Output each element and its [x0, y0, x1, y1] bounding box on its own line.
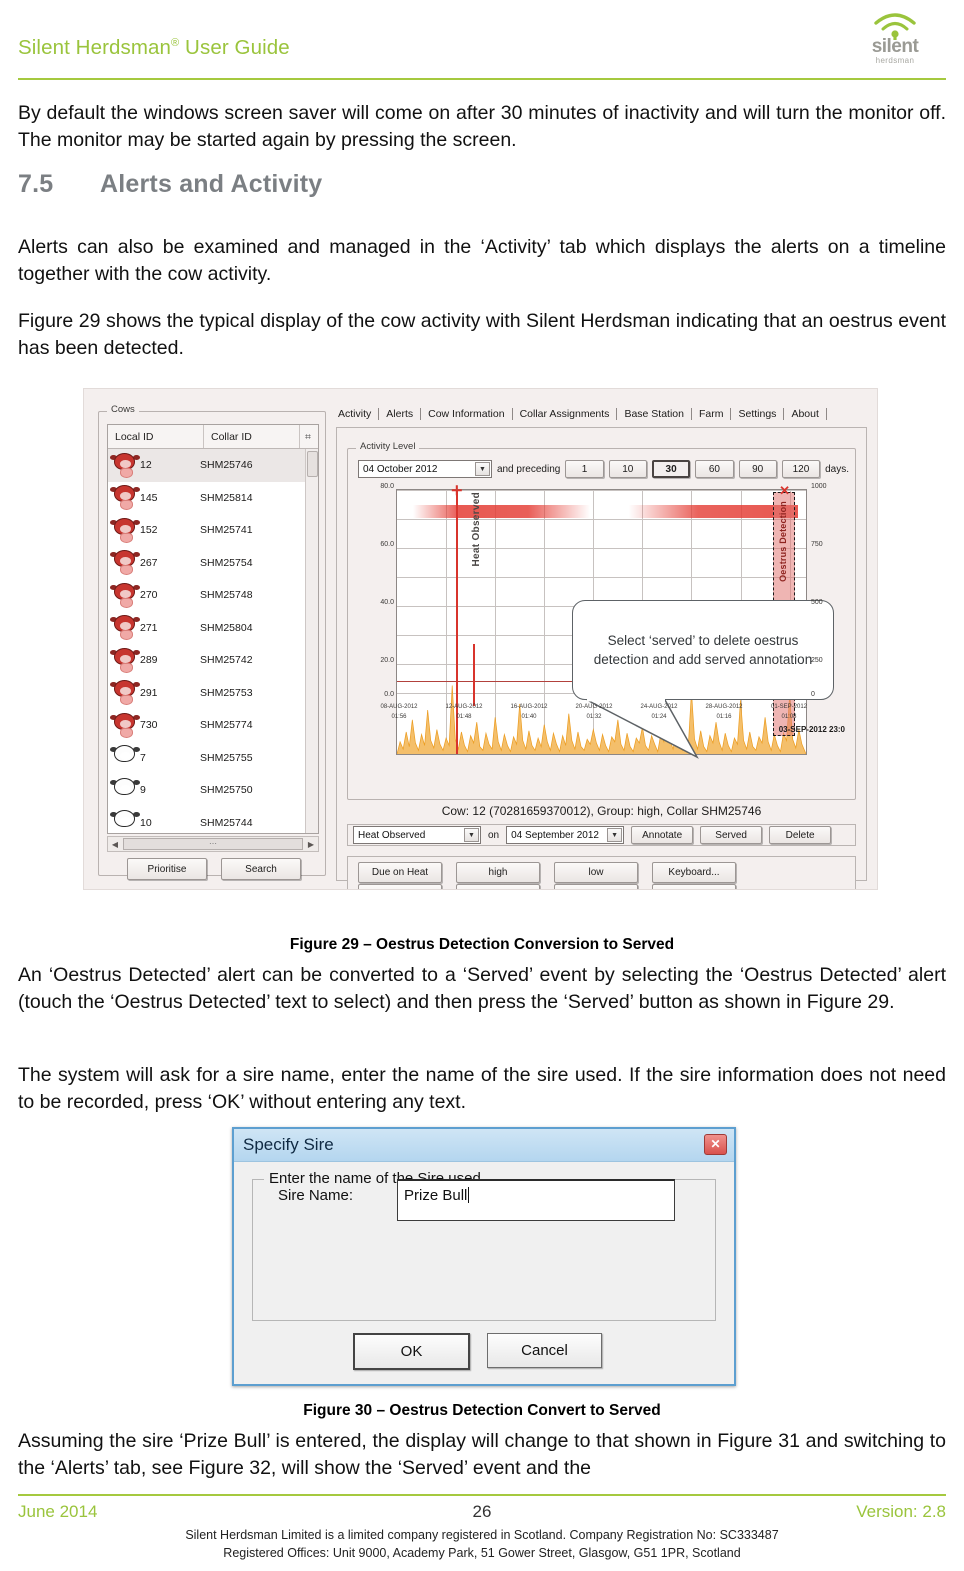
paragraph-sire-name: The system will ask for a sire name, ent…: [18, 1062, 946, 1116]
table-row[interactable]: 270 SHM25748: [108, 579, 318, 612]
cows-vertical-scrollbar[interactable]: [305, 449, 318, 833]
x-tick-date: 08-AUG-2012: [368, 703, 430, 711]
table-row[interactable]: 10 SHM25744: [108, 807, 318, 834]
section-number: 7.5: [18, 170, 100, 199]
section-title: Alerts and Activity: [100, 170, 322, 198]
y-tick-20: 20.0: [360, 657, 394, 664]
document-page: Silent Herdsman® User Guide silent herds…: [0, 0, 964, 1571]
cell-collar-id: SHM25746: [200, 459, 318, 471]
table-row[interactable]: 291 SHM25753: [108, 677, 318, 710]
cows-horizontal-scrollbar[interactable]: ◀ ⋯ ▶: [107, 836, 319, 852]
header-divider: [18, 78, 946, 80]
served-button[interactable]: Served: [700, 826, 762, 844]
cell-local-id: 152: [138, 524, 200, 536]
cell-local-id: 9: [138, 784, 200, 796]
cows-table-body: 12 SHM25746 145 SHM25814 152 SHM25741: [108, 449, 318, 833]
cell-collar-id: SHM25755: [200, 752, 318, 764]
days-label: days.: [825, 464, 849, 475]
due-on-heat-button[interactable]: Due on Heat: [358, 862, 442, 883]
cell-collar-id: SHM25750: [200, 784, 318, 796]
cow-red-icon: [112, 712, 138, 739]
scroll-left-icon[interactable]: ◀: [108, 840, 122, 849]
paragraph-oestrus-conversion: An ‘Oestrus Detected’ alert can be conve…: [18, 962, 946, 1016]
chevron-down-icon[interactable]: ▼: [607, 828, 622, 842]
cell-local-id: 7: [138, 752, 200, 764]
column-collar-id: Collar ID: [204, 425, 300, 448]
tab-cow-information[interactable]: Cow Information: [421, 408, 512, 420]
heat-observed-label: Heat Observed: [471, 492, 482, 567]
logo-subtext: herdsman: [852, 56, 938, 65]
bottom-button-row: Due on Heat Show All high heifer low fre…: [347, 856, 856, 890]
on-label: on: [488, 830, 499, 841]
silent-herdsman-logo: silent herdsman: [852, 10, 938, 78]
table-row[interactable]: 9 SHM25750: [108, 774, 318, 807]
tab-alerts[interactable]: Alerts: [379, 408, 421, 420]
days-button-1[interactable]: 1: [565, 460, 603, 478]
y2-tick-250: 250: [811, 657, 845, 664]
cell-collar-id: SHM25741: [200, 524, 318, 536]
cell-collar-id: SHM25753: [200, 687, 318, 699]
oestrus-detection-label: Oestrus Detection: [778, 501, 788, 582]
date-dropdown[interactable]: 04 October 2012▼: [358, 460, 492, 478]
cow-info-line: Cow: 12 (70281659370012), Group: high, C…: [347, 804, 856, 823]
scroll-right-icon[interactable]: ▶: [304, 840, 318, 849]
paragraph-alerts: Alerts can also be examined and managed …: [18, 234, 946, 288]
sire-name-label: Sire Name:: [278, 1187, 353, 1204]
x-tick-date: 16-AUG-2012: [498, 703, 560, 711]
event-date-value: 04 September 2012: [511, 830, 599, 841]
event-type-dropdown[interactable]: Heat Observed▼: [353, 826, 481, 844]
cell-collar-id: SHM25748: [200, 589, 318, 601]
callout-bubble: Select ‘served’ to delete oestrus detect…: [572, 600, 834, 700]
tab-collar-assignments[interactable]: Collar Assignments: [513, 408, 618, 420]
y2-tick-750: 750: [811, 541, 845, 548]
y-tick-60: 60.0: [360, 541, 394, 548]
x-tick-time: 01:56: [368, 713, 430, 721]
x-tick-date: 28-AUG-2012: [693, 703, 755, 711]
table-row[interactable]: 730 SHM25774: [108, 709, 318, 742]
cell-collar-id: SHM25744: [200, 817, 318, 829]
sire-name-value: Prize Bull: [404, 1187, 467, 1204]
activity-chart: ✛ Heat Observed Oestrus Detection ✕ Sele…: [358, 485, 847, 791]
cell-collar-id: SHM25814: [200, 492, 318, 504]
cow-white-icon: [112, 777, 138, 804]
cow-red-icon: [112, 582, 138, 609]
cows-group-label: Cows: [107, 404, 139, 415]
ok-button[interactable]: OK: [353, 1333, 470, 1370]
cow-red-icon: [112, 517, 138, 544]
cows-panel: Cows Local ID Collar ID ⌗ 12 SHM25746 14: [98, 411, 326, 876]
activity-spike-marker: [473, 644, 475, 706]
cow-red-icon: [112, 549, 138, 576]
page-header: Silent Herdsman® User Guide silent herds…: [18, 10, 946, 78]
activity-level-group: Activity Level 04 October 2012▼ and prec…: [347, 448, 856, 800]
days-button-60[interactable]: 60: [695, 460, 733, 478]
close-icon[interactable]: ✕: [704, 1134, 727, 1155]
figure-30-caption: Figure 30 – Oestrus Detection Convert to…: [0, 1402, 964, 1420]
cow-white-icon: [112, 744, 138, 771]
activity-tab-panel: Activity Level 04 October 2012▼ and prec…: [336, 427, 867, 881]
cell-collar-id: SHM25804: [200, 622, 318, 634]
x-tick-time: 01:08: [758, 713, 820, 721]
table-row[interactable]: 271 SHM25804: [108, 612, 318, 645]
y2-tick-1000: 1000: [811, 483, 845, 490]
heat-observed-cross-icon: ✛: [451, 483, 462, 499]
annotation-row: Heat Observed▼ on 04 September 2012▼ Ann…: [347, 824, 856, 846]
cell-local-id: 730: [138, 719, 200, 731]
figure-29-caption: Figure 29 – Oestrus Detection Conversion…: [0, 936, 964, 954]
table-row[interactable]: 7 SHM25755: [108, 742, 318, 775]
cow-red-icon: [112, 484, 138, 511]
cancel-button[interactable]: Cancel: [487, 1333, 602, 1368]
cow-white-icon: [112, 809, 138, 833]
main-pane: Activity Alerts Cow Information Collar A…: [336, 399, 867, 881]
keyboard-button[interactable]: Keyboard...: [652, 862, 736, 883]
scrollbar-thumb[interactable]: ⋯: [123, 838, 303, 850]
tab-farm[interactable]: Farm: [692, 408, 732, 420]
column-local-id: Local ID: [108, 425, 204, 448]
cell-collar-id: SHM25742: [200, 654, 318, 666]
annotate-button[interactable]: Annotate: [631, 826, 693, 844]
heifer-button[interactable]: heifer: [456, 884, 540, 890]
days-button-10[interactable]: 10: [609, 460, 647, 478]
x-tick-time: 01:16: [693, 713, 755, 721]
column-extra: ⌗: [300, 425, 318, 448]
dialog-title: Specify Sire: [243, 1135, 334, 1155]
cow-red-icon: [112, 614, 138, 641]
y2-tick-0: 0: [811, 691, 845, 698]
figure-29-app-screenshot: Cows Local ID Collar ID ⌗ 12 SHM25746 14: [83, 388, 878, 890]
x-tick-date: 20-AUG-2012: [563, 703, 625, 711]
logo-wordmark: silent: [852, 38, 938, 55]
reports-button[interactable]: Reports...: [652, 884, 736, 890]
footer-version: Version: 2.8: [856, 1502, 946, 1522]
table-row[interactable]: 152 SHM25741: [108, 514, 318, 547]
event-type-value: Heat Observed: [358, 830, 425, 841]
chevron-down-icon[interactable]: ▼: [475, 462, 490, 476]
table-row[interactable]: 12 SHM25746: [108, 449, 318, 482]
cow-red-icon: [112, 679, 138, 706]
end-timestamp-label: 03-SEP-2012 23:0: [779, 725, 845, 734]
cell-local-id: 12: [138, 459, 200, 471]
y-tick-40: 40.0: [360, 599, 394, 606]
event-date-dropdown[interactable]: 04 September 2012▼: [506, 826, 624, 844]
sire-name-input[interactable]: Prize Bull: [397, 1179, 675, 1221]
x-tick-time: 01:32: [563, 713, 625, 721]
tab-settings[interactable]: Settings: [731, 408, 784, 420]
cell-local-id: 10: [138, 817, 200, 829]
table-row[interactable]: 289 SHM25742: [108, 644, 318, 677]
preceding-label: and preceding: [497, 464, 560, 475]
specify-sire-dialog: Specify Sire ✕ Enter the name of the Sir…: [232, 1127, 736, 1386]
low-button[interactable]: low: [554, 862, 638, 883]
oestrus-cross-icon: ✕: [779, 483, 790, 499]
scrollbar-thumb[interactable]: [307, 451, 318, 477]
tab-about[interactable]: About: [784, 408, 826, 420]
footer-divider: [18, 1494, 946, 1496]
tab-activity[interactable]: Activity: [336, 408, 379, 420]
cell-local-id: 267: [138, 557, 200, 569]
paragraph-intro: By default the windows screen saver will…: [18, 100, 946, 154]
cell-local-id: 289: [138, 654, 200, 666]
x-tick-date: 12-AUG-2012: [433, 703, 495, 711]
cell-local-id: 145: [138, 492, 200, 504]
x-tick-date: 01-SEP-2012: [758, 703, 820, 711]
tab-bar: Activity Alerts Cow Information Collar A…: [336, 405, 827, 423]
y2-tick-500: 500: [811, 599, 845, 606]
table-row[interactable]: 267 SHM25754: [108, 547, 318, 580]
footer-legal-line-2: Registered Offices: Unit 9000, Academy P…: [0, 1546, 964, 1560]
show-all-button[interactable]: Show All: [358, 884, 442, 890]
fresh-button[interactable]: fresh: [554, 884, 638, 890]
search-button[interactable]: Search: [221, 858, 301, 880]
section-heading: 7.5Alerts and Activity: [18, 170, 946, 199]
table-row[interactable]: 145 SHM25814: [108, 482, 318, 515]
paragraph-prize-bull: Assuming the sire ‘Prize Bull’ is entere…: [18, 1428, 946, 1482]
tab-base-station[interactable]: Base Station: [617, 408, 692, 420]
high-button[interactable]: high: [456, 862, 540, 883]
chevron-down-icon[interactable]: ▼: [464, 828, 479, 842]
cell-collar-id: SHM25754: [200, 557, 318, 569]
y-tick-0: 0.0: [360, 691, 394, 698]
footer-page-number: 26: [0, 1502, 964, 1522]
cows-table-header: Local ID Collar ID ⌗: [108, 425, 318, 449]
footer-legal-line-1: Silent Herdsman Limited is a limited com…: [0, 1528, 964, 1542]
cell-local-id: 271: [138, 622, 200, 634]
cows-table[interactable]: Local ID Collar ID ⌗ 12 SHM25746 145 SHM…: [107, 424, 319, 834]
x-tick-time: 01:40: [498, 713, 560, 721]
x-tick-time: 01:48: [433, 713, 495, 721]
x-tick-date: 24-AUG-2012: [628, 703, 690, 711]
cell-collar-id: SHM25774: [200, 719, 318, 731]
date-value: 04 October 2012: [363, 464, 438, 475]
y-tick-80: 80.0: [360, 483, 394, 490]
delete-button[interactable]: Delete: [769, 826, 831, 844]
x-tick-time: 01:24: [628, 713, 690, 721]
cow-red-icon: [112, 647, 138, 674]
days-button-90[interactable]: 90: [739, 460, 777, 478]
prioritise-button[interactable]: Prioritise: [127, 858, 207, 880]
days-button-30[interactable]: 30: [652, 460, 690, 478]
cell-local-id: 270: [138, 589, 200, 601]
activity-controls-row: 04 October 2012▼ and preceding 1 10 30 6…: [358, 459, 849, 479]
paragraph-figure29-ref: Figure 29 shows the typical display of t…: [18, 308, 946, 362]
cow-red-icon: [112, 452, 138, 479]
days-button-120[interactable]: 120: [782, 460, 820, 478]
activity-level-label: Activity Level: [356, 441, 419, 452]
cell-local-id: 291: [138, 687, 200, 699]
header-title: Silent Herdsman® User Guide: [18, 36, 290, 60]
text-caret: [468, 1187, 469, 1203]
